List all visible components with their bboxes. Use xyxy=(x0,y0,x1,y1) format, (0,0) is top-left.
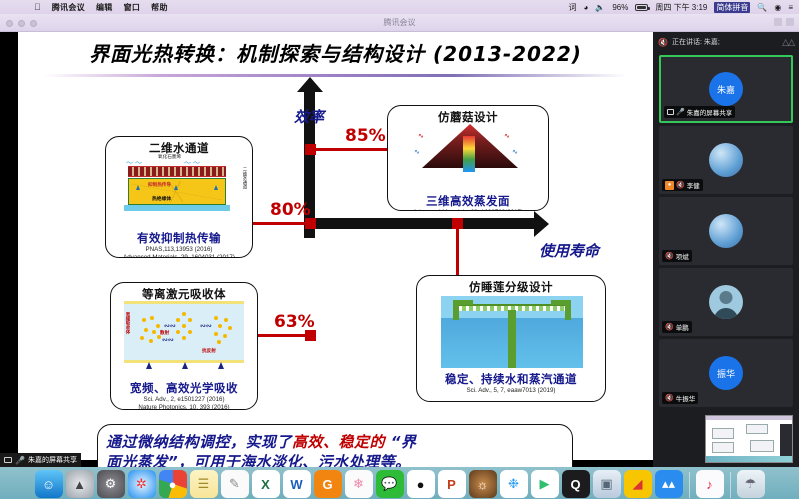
box3-graphic: 宽频吸收体 ∾∾ ∾∾ ∾∾ xyxy=(124,301,244,363)
y-axis-label: 效率 xyxy=(294,106,324,127)
box1-ref-1: PNAS,113,13953 (2016) xyxy=(106,246,252,254)
conclusion-text-b: “界 xyxy=(385,433,416,451)
participant-nametag: 🔇 单鹏 xyxy=(662,321,692,333)
dock-item-thunder[interactable]: ☼ xyxy=(469,470,497,498)
thumbnail-dock xyxy=(706,456,792,463)
mic-muted-icon: 🔇 xyxy=(658,38,668,47)
participant-tile-niuzhenhua[interactable]: 振华 🔇 牛振华 xyxy=(659,339,793,407)
box3-graphic-label-antireflect: 抗反射 xyxy=(202,348,216,354)
presentation-slide: 界面光热转换：机制探索与结构设计 (2013-2022) 效率 使用寿命 85%… xyxy=(18,32,653,460)
layout-icon[interactable] xyxy=(786,18,794,26)
box4-heading: 仿睡莲分级设计 xyxy=(417,279,605,295)
dock-item-tencent-meeting[interactable]: ▴▴ xyxy=(655,470,683,498)
mac-menu-bar:  腾讯会议 编辑 窗口 帮助 词 ◕ 🔈 96% 周四 下午 3:19 简体拼… xyxy=(0,0,799,14)
battery-percent: 96% xyxy=(612,3,628,12)
participant-name: 项斌 xyxy=(676,251,689,261)
x-axis-label: 使用寿命 xyxy=(539,240,599,261)
box2-subtitle: 三维高效蒸发面 xyxy=(388,193,548,209)
participant-name: 牛振华 xyxy=(676,393,696,403)
value-63: 63% xyxy=(274,312,315,332)
box1-subtitle: 有效抑制热传输 xyxy=(106,230,252,246)
conclusion-line-1: 通过微纳结构调控，实现了高效、稳定的 “界 xyxy=(106,432,564,452)
mic-muted-icon: 🔇 xyxy=(676,181,685,189)
avatar xyxy=(709,214,743,248)
control-center-icon[interactable]: ≡ xyxy=(788,3,793,12)
box-water-lily-hierarchical-design[interactable]: 仿睡莲分级设计 稳定、持续水和蒸汽通道 Sci. Adv., 5, 7, eaa… xyxy=(416,275,606,402)
microphone-icon: 🎤 xyxy=(676,108,685,116)
dock-separator xyxy=(689,472,690,498)
avatar: 朱嘉 xyxy=(709,72,743,106)
menu-item-help[interactable]: 帮助 xyxy=(151,2,168,13)
dock-item-potplayer[interactable]: ▶ xyxy=(531,470,559,498)
box2-ref-1: Advanced Materials, 29, 1606762(2017) xyxy=(388,209,548,211)
lifetime-axis xyxy=(304,218,535,229)
mac-dock: ☺ ▲ ⚙ ✲ ● ☰ ✎ X W G ❄ 💬 ● P ☼ ❉ ▶ Q ▣ ◢ … xyxy=(0,467,799,499)
mic-muted-icon: 🔇 xyxy=(665,323,674,331)
screen-share-thumbnail[interactable] xyxy=(705,415,793,463)
value-85: 85% xyxy=(345,126,386,146)
participant-tile-shanpeng[interactable]: 🔇 单鹏 xyxy=(659,268,793,336)
window-controls[interactable] xyxy=(6,20,37,27)
dock-item-wechat[interactable]: 💬 xyxy=(376,470,404,498)
screen-share-label: 朱嘉的屏幕共享 xyxy=(28,455,77,465)
connector-85 xyxy=(314,148,392,151)
box3-ref-1: Sci. Adv., 2, e1501227 (2016) xyxy=(111,396,257,404)
participant-nametag: 🔇 牛振华 xyxy=(662,392,698,404)
box2-graphic: ∿ ∿ ∿ ∿ xyxy=(416,122,522,174)
box4-graphic xyxy=(441,296,583,368)
close-icon[interactable] xyxy=(6,20,13,27)
dock-item-baidu-netdisk[interactable]: ❉ xyxy=(500,470,528,498)
avatar xyxy=(709,143,743,177)
participant-nametag: 🔇 项斌 xyxy=(662,250,692,262)
host-badge-icon: ● xyxy=(665,181,674,190)
ime-indicator[interactable]: 简体拼音 xyxy=(714,2,750,13)
apple-icon[interactable]:  xyxy=(34,2,41,12)
participant-nametag: ● 🔇 李健 xyxy=(662,179,703,191)
dock-item-preview[interactable]: ▣ xyxy=(593,470,621,498)
box3-heading: 等离激元吸收体 xyxy=(111,286,257,302)
box4-subtitle: 稳定、持续水和蒸汽通道 xyxy=(417,371,605,387)
box3-graphic-label-broadband: 宽频吸收体 xyxy=(125,312,131,334)
dock-separator-2 xyxy=(730,472,731,498)
maximize-icon[interactable] xyxy=(30,20,37,27)
dock-item-system-preferences[interactable]: ⚙ xyxy=(97,470,125,498)
box4-ref-1: Sci. Adv., 5, 7, eaaw7013 (2019) xyxy=(417,387,605,395)
window-title-bar: 腾讯会议 xyxy=(0,14,799,32)
dock-item-pages[interactable]: ✎ xyxy=(221,470,249,498)
signal-waves-icon: △△ xyxy=(782,37,794,48)
avatar xyxy=(709,285,743,319)
panel-toggle-icon[interactable] xyxy=(774,18,782,26)
participant-nametag: 🎤 朱嘉的屏幕共享 xyxy=(664,106,735,118)
mic-muted-icon: 🔇 xyxy=(665,252,674,260)
box3-subtitle: 宽频、高效光学吸收 xyxy=(111,380,257,396)
dock-item-trash[interactable]: ☂ xyxy=(737,470,765,498)
box1-graphic-label-channel: 二维水通道 xyxy=(242,167,248,189)
thumbnail-content xyxy=(706,420,792,456)
dock-item-itunes[interactable]: ♪ xyxy=(696,470,724,498)
dock-item-launchpad[interactable]: ▲ xyxy=(66,470,94,498)
participant-tile-zhujia[interactable]: 朱嘉 🎤 朱嘉的屏幕共享 xyxy=(659,55,793,123)
search-icon[interactable]: 🔍 xyxy=(757,3,767,12)
dock-item-quicktime[interactable]: Q xyxy=(562,470,590,498)
participant-name: 李健 xyxy=(687,180,700,190)
ime-flag-icon[interactable]: 词 xyxy=(569,2,577,13)
box1-graphic-label-go: 氧化石墨烯 xyxy=(158,154,181,160)
box1-ref-2: Advanced Materials, 29, 1604031 (2017) xyxy=(106,254,252,258)
dock-item-notes[interactable]: ☰ xyxy=(190,470,218,498)
dock-item-powerpoint[interactable]: P xyxy=(438,470,466,498)
box3-graphic-label-scatter: 散射 xyxy=(160,330,169,336)
box1-graphic-label-insulator: 热绝缘体 xyxy=(152,195,171,202)
box1-graphic-label-heat: 抑制热传导 xyxy=(148,182,171,188)
dock-item-word[interactable]: W xyxy=(283,470,311,498)
participant-name: 单鹏 xyxy=(676,322,689,332)
participant-tile-lijian[interactable]: ● 🔇 李健 xyxy=(659,126,793,194)
participants-rail: 🔇 正在讲话: 朱嘉; △△ 朱嘉 🎤 朱嘉的屏幕共享 ● 🔇 李健 🔇 项斌 … xyxy=(653,32,799,467)
page-title: 界面光热转换：机制探索与结构设计 (2013-2022) xyxy=(18,38,653,67)
screen-icon xyxy=(4,457,12,463)
dock-item-finder[interactable]: ☺ xyxy=(35,470,63,498)
menu-item-app[interactable]: 腾讯会议 xyxy=(52,2,85,13)
window-title: 腾讯会议 xyxy=(384,17,416,28)
active-speaker-label: 正在讲话: 朱嘉; xyxy=(672,37,720,47)
wifi-icon[interactable]: ◕ xyxy=(584,3,589,12)
conclusion-text-a: 通过微纳结构调控，实现了 xyxy=(106,433,292,451)
volume-icon[interactable]: 🔈 xyxy=(595,3,605,12)
box3-ref-2: Nature Photonics, 10, 393 (2016) xyxy=(111,404,257,410)
minimize-icon[interactable] xyxy=(18,20,25,27)
dock-item-acrobat[interactable]: ◢ xyxy=(624,470,652,498)
participant-tile-xiangbin[interactable]: 🔇 项斌 xyxy=(659,197,793,265)
box-mushroom-bionic-design[interactable]: 仿蘑菇设计 ∿ ∿ ∿ ∿ 三维高效蒸发面 Advanced Materials… xyxy=(387,105,549,211)
connector-80 xyxy=(248,222,308,225)
menu-item-edit[interactable]: 编辑 xyxy=(96,2,113,13)
mic-muted-icon: 🔇 xyxy=(665,394,674,402)
dock-item-photos[interactable]: ❄ xyxy=(345,470,373,498)
box1-graphic: 〜〜 〜〜 氧化石墨烯 抑制热传导 热绝缘体 二维水通道 xyxy=(122,155,236,211)
box-plasmonic-absorber[interactable]: 等离激元吸收体 宽频吸收体 ∾∾ xyxy=(110,282,258,410)
shared-screen-stage: 界面光热转换：机制探索与结构设计 (2013-2022) 效率 使用寿命 85%… xyxy=(0,32,653,467)
active-speaker-bar: 🔇 正在讲话: 朱嘉; △△ xyxy=(653,32,799,52)
menu-item-window[interactable]: 窗口 xyxy=(124,2,141,13)
participant-name: 朱嘉的屏幕共享 xyxy=(687,107,733,117)
screen-share-badge: 🎤 朱嘉的屏幕共享 xyxy=(0,453,81,467)
box-two-dimensional-water-channel[interactable]: 二维水通道 〜〜 〜〜 氧化石墨烯 抑制热传导 热绝缘体 二维水通道 有效抑制热… xyxy=(105,136,253,258)
value-80: 80% xyxy=(270,200,311,220)
siri-icon[interactable]: ◉ xyxy=(774,3,781,12)
dock-item-safari[interactable]: ✲ xyxy=(128,470,156,498)
conclusion-text-highlight: 高效、稳定的 xyxy=(292,433,385,451)
dock-item-qq[interactable]: ● xyxy=(407,470,435,498)
battery-icon[interactable] xyxy=(635,4,648,11)
dock-item-chrome[interactable]: ● xyxy=(159,470,187,498)
title-divider xyxy=(44,74,627,77)
dock-item-excel[interactable]: X xyxy=(252,470,280,498)
screen-icon xyxy=(667,109,674,115)
avatar: 振华 xyxy=(709,356,743,390)
clock[interactable]: 周四 下午 3:19 xyxy=(655,2,707,13)
dock-item-foxit-pdf[interactable]: G xyxy=(314,470,342,498)
microphone-icon: 🎤 xyxy=(15,456,25,465)
window-extra-controls[interactable] xyxy=(774,18,794,26)
